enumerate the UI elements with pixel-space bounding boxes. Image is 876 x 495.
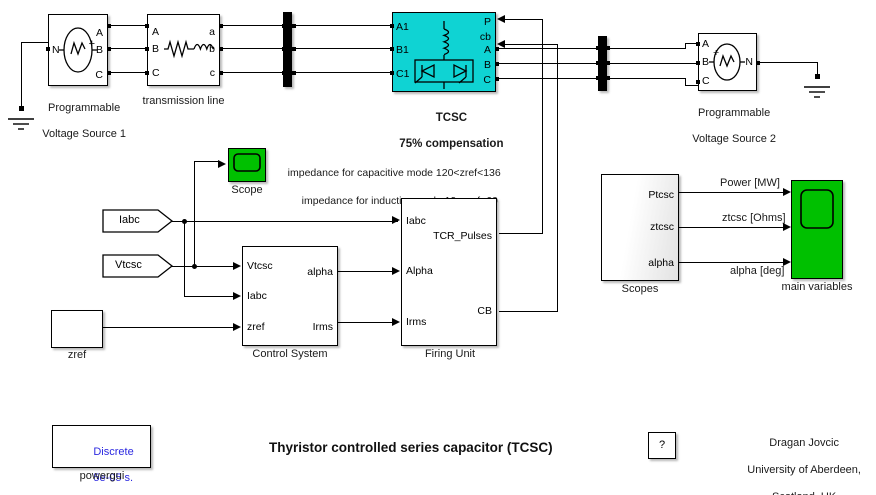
wire-tcsc-B-bus2 xyxy=(498,63,598,64)
scopes-port-ptcsc: Ptcsc xyxy=(648,189,674,201)
tcsc-port-C: C xyxy=(483,74,491,86)
source1-port-B: B xyxy=(96,44,103,56)
port-source2-C xyxy=(696,80,700,84)
label-tcsc-line2: 75% compensation xyxy=(399,138,503,150)
wire-cb-top xyxy=(505,44,558,45)
wire-s1C-tlC xyxy=(110,72,147,73)
wire-alpha xyxy=(679,262,785,263)
wire-vtcsc-to-scope xyxy=(194,161,219,162)
block-from-vtcsc[interactable]: Vtcsc xyxy=(102,254,174,278)
tcsc-port-cb: cb xyxy=(480,31,491,43)
port-bus1-in-a xyxy=(282,24,286,28)
powergui-text: Discrete 5e-05 s. xyxy=(75,433,134,495)
source1-plus-sign: + xyxy=(89,38,95,50)
source2-port-B: B xyxy=(702,56,709,68)
arrow-cs-in-zref xyxy=(233,323,241,331)
scopes-port-alpha: alpha xyxy=(648,257,674,269)
page-title: Thyristor controlled series capacitor (T… xyxy=(269,440,553,455)
fu-port-cb: CB xyxy=(477,305,492,317)
label-tcsc-line1: TCSC xyxy=(436,112,467,124)
credit-line2: University of Aberdeen, xyxy=(747,464,861,476)
label-control-system: Control System xyxy=(238,348,342,361)
arrow-cs-in-vtcsc xyxy=(233,262,241,270)
port-bus1-in-b xyxy=(282,47,286,51)
port-ground2 xyxy=(815,74,820,79)
block-scopes[interactable]: Ptcsc ztcsc alpha xyxy=(601,174,679,281)
label-from-iabc: Iabc xyxy=(119,214,140,226)
block-from-iabc[interactable]: Iabc xyxy=(102,209,174,233)
wire-bus1-tcsc-B1 xyxy=(295,48,391,49)
signal-label-power: Power [MW] xyxy=(720,177,780,190)
wire-gnd1-horizontal xyxy=(21,42,48,43)
port-bus2-in-c xyxy=(596,76,600,80)
block-transmission-line[interactable]: A B C a b c xyxy=(147,14,220,86)
author-credit: Dragan Jovcic University of Aberdeen, Sc… xyxy=(726,423,870,495)
label-source2-line2: Voltage Source 2 xyxy=(692,133,776,145)
wire-zref-to-cs xyxy=(103,327,238,328)
port-bus2-in-b xyxy=(596,61,600,65)
label-source2-line1: Programmable xyxy=(698,107,770,119)
port-tcsc-B1 xyxy=(390,47,394,51)
label-powergui: powergui xyxy=(62,470,142,483)
label-from-vtcsc: Vtcsc xyxy=(115,259,142,271)
wire-source2-gnd-h xyxy=(759,62,818,63)
wire-bus2-b-h xyxy=(609,63,698,64)
arrow-ptcsc xyxy=(783,188,791,196)
fu-port-tcr-pulses: TCR_Pulses xyxy=(433,230,492,242)
wire-cs-alpha-fu xyxy=(338,271,394,272)
wire-s1A-tlA xyxy=(110,25,147,26)
cs-port-alpha: alpha xyxy=(307,266,333,278)
block-scope[interactable] xyxy=(228,148,266,182)
tline-port-C: C xyxy=(152,67,160,79)
port-tline-in-A xyxy=(145,24,149,28)
port-bus2-in-a xyxy=(596,46,600,50)
block-firing-unit[interactable]: Iabc Alpha Irms TCR_Pulses CB xyxy=(401,198,497,346)
source1-port-N: N xyxy=(52,44,60,56)
cs-port-irms: Irms xyxy=(313,321,333,333)
wire-bus1-tcsc-C1 xyxy=(295,72,391,73)
wire-vtcsc-main xyxy=(172,266,238,267)
arrow-fu-in-alpha xyxy=(392,267,400,275)
fu-port-alpha: Alpha xyxy=(406,265,433,277)
wire-ptcsc xyxy=(679,192,785,193)
powergui-line1: Discrete xyxy=(93,446,133,458)
arrow-fu-in-iabc xyxy=(392,216,400,224)
tline-port-b: b xyxy=(209,43,215,55)
wire-iabc-main xyxy=(172,221,398,222)
label-firing-unit: Firing Unit xyxy=(398,348,502,361)
label-main-variables: main variables xyxy=(778,281,856,294)
wire-cs-irms-fu xyxy=(338,322,394,323)
source2-port-A: A xyxy=(702,38,709,50)
port-source1-N xyxy=(46,47,50,51)
port-tline-in-B xyxy=(145,47,149,51)
port-bus1-in-c xyxy=(282,71,286,75)
port-tcsc-A1 xyxy=(390,24,394,28)
block-main-variables[interactable] xyxy=(791,180,843,279)
block-powergui[interactable]: Discrete 5e-05 s. xyxy=(52,425,151,468)
wire-cb-bottom xyxy=(499,311,558,312)
cs-port-iabc: Iabc xyxy=(247,290,267,302)
block-tcsc[interactable]: A1 B1 C1 P cb A B C xyxy=(392,12,496,92)
wire-tl-c-bus1 xyxy=(222,72,284,73)
label-scope: Scope xyxy=(213,184,281,197)
wire-iabc-to-cs xyxy=(184,296,238,297)
label-source2: Programmable Voltage Source 2 xyxy=(668,94,788,159)
cs-port-zref: zref xyxy=(247,321,265,333)
source2-port-N: N xyxy=(745,56,753,68)
port-source2-A xyxy=(696,42,700,46)
arrow-tcsc-cb-in xyxy=(497,40,505,48)
simulink-model-canvas: N A B C + Programmable Voltage Source 1 … xyxy=(0,0,876,495)
label-source1-line2: Voltage Source 1 xyxy=(42,128,126,140)
block-programmable-voltage-source-1[interactable]: N A B C + xyxy=(48,14,108,86)
block-programmable-voltage-source-2[interactable]: A B C N + xyxy=(698,33,757,91)
help-question-mark: ? xyxy=(649,439,675,451)
arrow-cs-in-iabc xyxy=(233,292,241,300)
source2-port-C: C xyxy=(702,75,710,87)
wire-bus1-tcsc-A1 xyxy=(295,25,391,26)
source1-port-C: C xyxy=(95,69,103,81)
tcsc-port-B1: B1 xyxy=(396,44,409,56)
help-button[interactable]: ? xyxy=(648,432,676,459)
wire-tcr-p-top xyxy=(505,19,543,20)
block-control-system[interactable]: Vtcsc Iabc zref alpha Irms xyxy=(242,246,338,346)
credit-line1: Dragan Jovcic xyxy=(769,437,839,449)
wire-tcr-p-bottom xyxy=(499,233,543,234)
tcsc-port-P: P xyxy=(484,16,491,28)
tcsc-port-A: A xyxy=(484,44,491,56)
arrow-fu-in-irms xyxy=(392,318,400,326)
wire-vtcsc-up xyxy=(194,161,195,267)
arrow-scope-in xyxy=(218,160,226,168)
fu-port-irms: Irms xyxy=(406,316,426,328)
wire-tl-a-bus1 xyxy=(222,25,284,26)
wire-s1B-tlB xyxy=(110,48,147,49)
tcsc-port-B: B xyxy=(484,59,491,71)
label-scopes: Scopes xyxy=(601,283,679,296)
annotation-line1: impedance for capacitive mode 120<zref<1… xyxy=(288,167,501,179)
wire-ztcsc xyxy=(679,227,785,228)
label-source1-line1: Programmable xyxy=(48,102,120,114)
tline-port-B: B xyxy=(152,43,159,55)
wire-bus2-c-h1 xyxy=(609,78,686,79)
label-source1: Programmable Voltage Source 1 xyxy=(18,89,138,154)
wire-bus2-c-h2 xyxy=(685,85,698,86)
credit-line3: Scotland, UK xyxy=(772,491,836,495)
arrow-tcsc-P-in xyxy=(497,15,505,23)
wire-tcsc-A-bus2 xyxy=(498,48,598,49)
ground-symbol-2 xyxy=(804,86,832,100)
tcsc-port-A1: A1 xyxy=(396,21,409,33)
scopes-port-ztcsc: ztcsc xyxy=(650,221,674,233)
label-zref: zref xyxy=(46,349,108,362)
signal-label-ztcsc: ztcsc [Ohms] xyxy=(722,212,786,225)
tline-port-c: c xyxy=(210,67,215,79)
wire-bus2-a-h1 xyxy=(609,48,686,49)
block-zref[interactable] xyxy=(51,310,103,348)
fu-port-iabc: Iabc xyxy=(406,215,426,227)
wire-tcsc-C-bus2 xyxy=(498,78,598,79)
tline-port-A: A xyxy=(152,26,159,38)
source1-port-A: A xyxy=(96,27,103,39)
label-transmission-line: transmission line xyxy=(130,95,237,108)
cs-port-vtcsc: Vtcsc xyxy=(247,260,273,272)
signal-label-alpha: alpha [deg] xyxy=(730,265,784,278)
source2-plus-sign: + xyxy=(713,47,719,59)
port-tcsc-C1 xyxy=(390,71,394,75)
port-tline-in-C xyxy=(145,71,149,75)
tcsc-port-C1: C1 xyxy=(396,68,409,80)
wire-iabc-down xyxy=(184,221,185,297)
wire-tl-b-bus1 xyxy=(222,48,284,49)
tline-port-a: a xyxy=(209,26,215,38)
port-source2-B xyxy=(696,61,700,65)
